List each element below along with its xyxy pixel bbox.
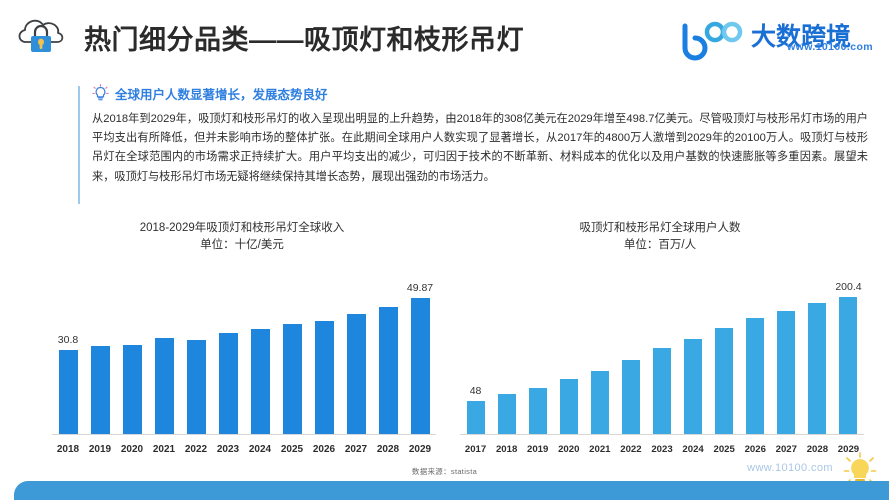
x-axis-label: 2020	[553, 444, 584, 455]
x-axis-label: 2022	[180, 444, 212, 455]
page-title: 热门细分品类——吸顶灯和枝形吊灯	[84, 18, 524, 57]
x-axis-label: 2024	[244, 444, 276, 455]
bar	[622, 360, 640, 434]
chart-revenue-subtitle: 单位：十亿/美元	[42, 237, 442, 254]
x-axis-label: 2025	[276, 444, 308, 455]
x-axis-label: 2019	[522, 444, 553, 455]
bar-column	[678, 284, 709, 434]
slide-root: 热门细分品类——吸顶灯和枝形吊灯 大数跨境 www.10100.com	[0, 0, 889, 500]
bar-column: 30.8	[52, 284, 84, 434]
bar-column	[116, 284, 148, 434]
x-axis-label: 2023	[646, 444, 677, 455]
bar-column	[244, 284, 276, 434]
chart-revenue-xlabels: 2018201920202021202220232024202520262027…	[52, 444, 436, 455]
chart-users-bars: 48200.4	[460, 284, 864, 434]
accent-rule	[78, 86, 80, 204]
x-axis-label: 2021	[148, 444, 180, 455]
chart-users-xlabels: 2017201820192020202120222023202420252026…	[460, 444, 864, 455]
bar-value-label: 48	[470, 385, 482, 397]
lede-heading: 全球用户人数显著增长，发展态势良好	[92, 84, 328, 103]
x-axis-label: 2018	[491, 444, 522, 455]
x-axis-label: 2029	[404, 444, 436, 455]
footer-url[interactable]: www.10100.com	[747, 462, 833, 474]
bar	[529, 388, 547, 434]
chart-users-axis	[460, 434, 864, 435]
lightbulb-icon	[92, 84, 109, 103]
bottom-bar	[14, 481, 889, 500]
bar	[91, 346, 110, 434]
bar	[777, 311, 795, 434]
chart-users-subtitle: 单位：百万/人	[450, 237, 870, 254]
bar	[839, 297, 857, 434]
chart-users-plot: 48200.4 20172018201920202021202220232024…	[450, 262, 870, 457]
bar	[715, 328, 733, 434]
bar-column	[740, 284, 771, 434]
bar-column	[771, 284, 802, 434]
x-axis-label: 2028	[372, 444, 404, 455]
bar	[283, 324, 302, 434]
bar-column	[340, 284, 372, 434]
bar-column	[646, 284, 677, 434]
x-axis-label: 2027	[771, 444, 802, 455]
bar-column	[709, 284, 740, 434]
bar-column	[308, 284, 340, 434]
bar-column	[553, 284, 584, 434]
bar	[187, 340, 206, 434]
bar-value-label: 49.87	[407, 282, 433, 294]
bar-column	[802, 284, 833, 434]
bar-column	[212, 284, 244, 434]
chart-revenue: 2018-2029年吸顶灯和枝形吊灯全球收入 单位：十亿/美元 30.849.8…	[42, 220, 442, 460]
bar	[808, 303, 826, 434]
bar	[315, 321, 334, 434]
bar-column	[584, 284, 615, 434]
chart-users: 吸顶灯和枝形吊灯全球用户人数 单位：百万/人 48200.4 201720182…	[450, 220, 870, 460]
bar-column	[180, 284, 212, 434]
x-axis-label: 2026	[308, 444, 340, 455]
x-axis-label: 2022	[615, 444, 646, 455]
bar	[123, 345, 142, 434]
x-axis-label: 2017	[460, 444, 491, 455]
bar-column	[372, 284, 404, 434]
intro-paragraph-text: 从2018年到2029年，吸顶灯和枝形吊灯的收入呈现出明显的上升趋势，由2018…	[92, 110, 868, 187]
x-axis-label: 2028	[802, 444, 833, 455]
bar-column	[615, 284, 646, 434]
x-axis-label: 2027	[340, 444, 372, 455]
x-axis-label: 2023	[212, 444, 244, 455]
bar	[591, 371, 609, 434]
lede-text: 全球用户人数显著增长，发展态势良好	[115, 84, 328, 103]
x-axis-label: 2018	[52, 444, 84, 455]
bar-column	[148, 284, 180, 434]
x-axis-label: 2024	[678, 444, 709, 455]
bar	[560, 379, 578, 434]
chart-revenue-title: 2018-2029年吸顶灯和枝形吊灯全球收入 单位：十亿/美元	[42, 220, 442, 254]
chart-revenue-bars: 30.849.87	[52, 284, 436, 434]
bar	[411, 298, 430, 434]
bar	[684, 339, 702, 434]
header: 热门细分品类——吸顶灯和枝形吊灯 大数跨境 www.10100.com	[0, 0, 889, 74]
chart-revenue-axis	[52, 434, 436, 435]
chart-revenue-title-text: 2018-2029年吸顶灯和枝形吊灯全球收入	[140, 222, 345, 234]
bar-column	[522, 284, 553, 434]
chart-users-title: 吸顶灯和枝形吊灯全球用户人数 单位：百万/人	[450, 220, 870, 254]
bar-value-label: 200.4	[835, 281, 861, 293]
x-axis-label: 2025	[709, 444, 740, 455]
bar	[251, 329, 270, 434]
bar-column	[276, 284, 308, 434]
bar	[347, 314, 366, 434]
bar	[653, 348, 671, 434]
x-axis-label: 2020	[116, 444, 148, 455]
x-axis-label: 2019	[84, 444, 116, 455]
bar	[379, 307, 398, 434]
bar-column: 49.87	[404, 284, 436, 434]
bar	[467, 401, 485, 434]
chart-revenue-plot: 30.849.87 201820192020202120222023202420…	[42, 262, 442, 457]
bar	[746, 318, 764, 434]
bar-column: 48	[460, 284, 491, 434]
chart-users-title-text: 吸顶灯和枝形吊灯全球用户人数	[580, 222, 741, 234]
bar	[59, 350, 78, 434]
brand-url[interactable]: www.10100.com	[787, 41, 873, 53]
cloud-lock-icon	[14, 14, 70, 60]
bar	[219, 333, 238, 434]
bar-column	[84, 284, 116, 434]
bar	[498, 394, 516, 434]
bar-column	[491, 284, 522, 434]
bar-value-label: 30.8	[58, 334, 78, 346]
x-axis-label: 2026	[740, 444, 771, 455]
intro-paragraph: 从2018年到2029年，吸顶灯和枝形吊灯的收入呈现出明显的上升趋势，由2018…	[92, 110, 868, 187]
bar-column: 200.4	[833, 284, 864, 434]
bar	[155, 338, 174, 434]
x-axis-label: 2021	[584, 444, 615, 455]
